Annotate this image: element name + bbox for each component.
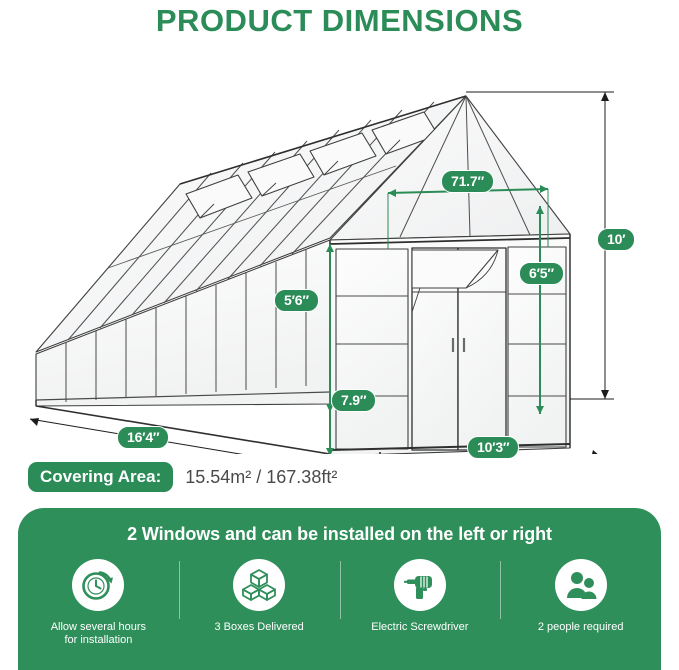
covering-area-label: Covering Area: xyxy=(28,462,173,492)
feature-boxes-delivered: 3 Boxes Delivered xyxy=(179,559,340,647)
info-panel: 2 Windows and can be installed on the le… xyxy=(18,508,661,670)
dimension-badge-window-width: 71.7″ xyxy=(441,170,494,193)
feature-icon-circle xyxy=(555,559,607,611)
greenhouse-diagram: 71.7″ 6′5″ 10′ 5′6″ 7.9″ 16′4″ 10′3″ xyxy=(0,44,679,454)
feature-list: Allow several hours for installation xyxy=(18,559,661,647)
product-dimensions-infographic: PRODUCT DIMENSIONS xyxy=(0,0,679,670)
panel-headline: 2 Windows and can be installed on the le… xyxy=(18,508,661,545)
feature-caption: 2 people required xyxy=(538,621,624,634)
feature-electric-screwdriver: Electric Screwdriver xyxy=(340,559,501,647)
dimension-badge-side-wall-height: 5′6″ xyxy=(274,289,319,312)
drill-icon xyxy=(403,568,437,602)
dimension-badge-length: 16′4″ xyxy=(117,426,169,449)
feature-caption: 3 Boxes Delivered xyxy=(214,621,303,634)
dimension-badge-width: 10′3″ xyxy=(467,436,519,459)
feature-people-required: 2 people required xyxy=(500,559,661,647)
feature-icon-circle xyxy=(394,559,446,611)
covering-area-row: Covering Area: 15.54m² / 167.38ft² xyxy=(28,462,337,492)
dimension-badge-door-height: 6′5″ xyxy=(519,262,564,285)
dimension-badge-peak-height: 10′ xyxy=(597,228,635,251)
feature-icon-circle xyxy=(72,559,124,611)
feature-icon-circle xyxy=(233,559,285,611)
covering-area-value: 15.54m² / 167.38ft² xyxy=(185,467,337,487)
page-title: PRODUCT DIMENSIONS xyxy=(0,0,679,40)
boxes-icon xyxy=(242,568,276,602)
dimension-badge-base-height: 7.9″ xyxy=(331,389,376,412)
feature-installation-time: Allow several hours for installation xyxy=(18,559,179,647)
two-people-icon xyxy=(564,568,598,602)
clock-arrow-icon xyxy=(80,567,116,603)
feature-caption: Allow several hours for installation xyxy=(51,621,146,647)
feature-caption: Electric Screwdriver xyxy=(371,621,468,634)
